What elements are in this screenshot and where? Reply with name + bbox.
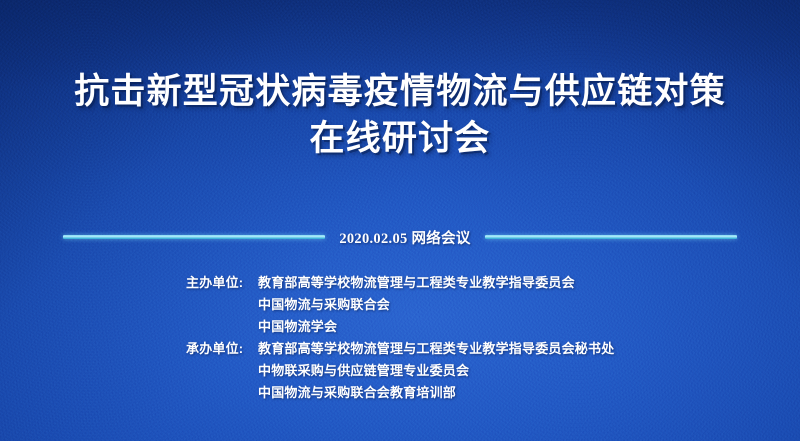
organizer-row: 中物联采购与供应链管理专业委员会 — [186, 360, 760, 382]
conference-poster: 抗击新型冠状病毒疫情物流与供应链对策 在线研讨会 2020.02.05 网络会议… — [0, 0, 800, 441]
organizer-group-host: 主办单位: 教育部高等学校物流管理与工程类专业教学指导委员会 中国物流与采购联合… — [186, 272, 760, 338]
organizer-entry: 中国物流与采购联合会教育培训部 — [258, 382, 456, 401]
divider-rule-left — [63, 235, 325, 239]
organizer-entry: 中国物流学会 — [258, 316, 337, 335]
organizer-row: 中国物流与采购联合会 — [186, 294, 760, 316]
title-line-1: 抗击新型冠状病毒疫情物流与供应链对策 — [0, 68, 800, 115]
organizer-entry: 中国物流与采购联合会 — [258, 294, 390, 313]
organizer-row: 中国物流学会 — [186, 316, 760, 338]
date-divider-row: 2020.02.05 网络会议 — [0, 225, 800, 249]
organizer-group-coorganizer: 承办单位: 教育部高等学校物流管理与工程类专业教学指导委员会秘书处 中物联采购与… — [186, 338, 760, 404]
organizer-entry: 中物联采购与供应链管理专业委员会 — [258, 360, 469, 379]
divider-rule-right — [485, 235, 737, 239]
organizer-row: 承办单位: 教育部高等学校物流管理与工程类专业教学指导委员会秘书处 — [186, 338, 760, 360]
organizer-label-coorganizer: 承办单位: — [186, 338, 258, 357]
organizer-entry: 教育部高等学校物流管理与工程类专业教学指导委员会 — [258, 272, 575, 291]
organizer-section: 主办单位: 教育部高等学校物流管理与工程类专业教学指导委员会 中国物流与采购联合… — [186, 272, 760, 404]
title-line-2: 在线研讨会 — [0, 115, 800, 162]
poster-title: 抗击新型冠状病毒疫情物流与供应链对策 在线研讨会 — [0, 68, 800, 162]
organizer-entry: 教育部高等学校物流管理与工程类专业教学指导委员会秘书处 — [258, 338, 614, 357]
organizer-row: 中国物流与采购联合会教育培训部 — [186, 382, 760, 404]
meeting-date-label: 2020.02.05 网络会议 — [325, 227, 484, 248]
organizer-row: 主办单位: 教育部高等学校物流管理与工程类专业教学指导委员会 — [186, 272, 760, 294]
organizer-label-host: 主办单位: — [186, 272, 258, 291]
poster-content: 抗击新型冠状病毒疫情物流与供应链对策 在线研讨会 2020.02.05 网络会议… — [0, 0, 800, 441]
